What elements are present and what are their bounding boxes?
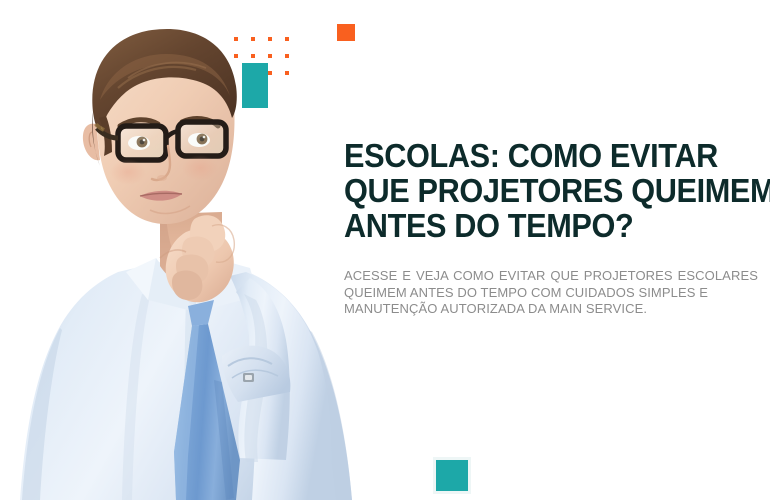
dot-grid-dot (234, 37, 238, 41)
subheadline-last-line: MANUTENÇÃO AUTORIZADA DA MAIN SERVICE. (344, 301, 758, 318)
subheadline-body: ACESSE E VEJA COMO EVITAR QUE PROJETORES… (344, 268, 758, 300)
dot-grid-dot (268, 54, 272, 58)
teal-square-decoration (436, 460, 468, 491)
headline-line-1: ESCOLAS: COMO EVITAR (344, 138, 731, 173)
headline-line-3: ANTES DO TEMPO? (344, 208, 731, 243)
dot-grid-dot (285, 71, 289, 75)
headline-line-2: QUE PROJETORES QUEIMEM (344, 173, 731, 208)
dot-grid-dot (285, 37, 289, 41)
text-block: ESCOLAS: COMO EVITAR QUE PROJETORES QUEI… (344, 138, 760, 318)
dot-grid-dot (285, 54, 289, 58)
hero-photo-thinking-businessman (0, 0, 392, 500)
dot-grid-dot (268, 37, 272, 41)
poster-canvas: ESCOLAS: COMO EVITAR QUE PROJETORES QUEI… (0, 0, 770, 500)
subheadline: ACESSE E VEJA COMO EVITAR QUE PROJETORES… (344, 243, 758, 318)
dot-grid-dot (234, 54, 238, 58)
orange-square-decoration (337, 24, 355, 41)
dot-grid-dot (268, 71, 272, 75)
page-title: ESCOLAS: COMO EVITAR QUE PROJETORES QUEI… (344, 138, 731, 243)
teal-rectangle-decoration (242, 63, 268, 108)
dot-grid-dot (251, 37, 255, 41)
dot-grid-dot (251, 54, 255, 58)
